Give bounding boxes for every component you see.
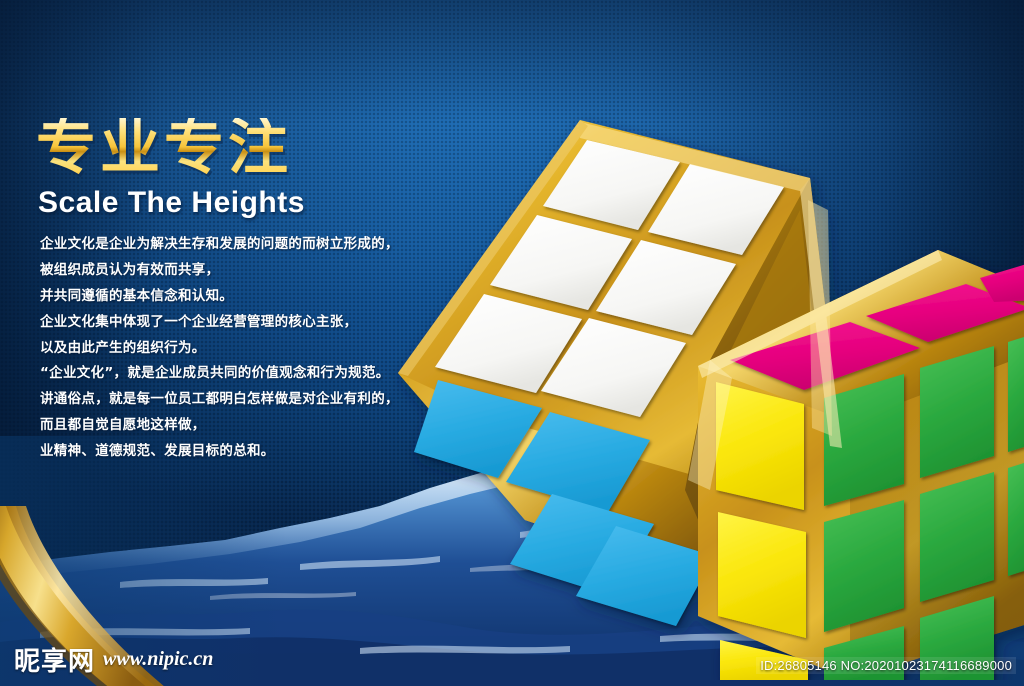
body-line: 并共同遵循的基本信念和认知。 [40,288,436,305]
body-line: 而且都自觉自愿地这样做， [40,417,436,434]
rubiks-cube-image [380,60,1024,680]
watermark-brand: 昵享网 [14,641,95,678]
image-id-tag: ID:26805146 NO:20201023174116689000 [756,657,1016,674]
body-line: 以及由此产生的组织行为。 [40,340,436,357]
poster-canvas: 专业专注 Scale The Heights 企业文化是企业为解决生存和发展的问… [0,0,1024,686]
body-line: 讲通俗点，就是每一位员工都明白怎样做是对企业有利的， [40,391,436,408]
page-title: 专业专注 [36,118,436,178]
body-line: “企业文化”，就是企业成员共同的价值观念和行为规范。 [40,365,436,382]
body-line: 企业文化集中体现了一个企业经营管理的核心主张， [40,314,436,331]
watermark-url: www.nipic.cn [103,648,213,671]
body-line: 被组织成员认为有效而共享， [40,262,436,279]
watermark: 昵享网 www.nipic.cn [14,641,213,678]
body-line: 业精神、道德规范、发展目标的总和。 [40,443,436,460]
body-line: 企业文化是企业为解决生存和发展的问题的而树立形成的， [40,236,436,253]
body-paragraph: 企业文化是企业为解决生存和发展的问题的而树立形成的， 被组织成员认为有效而共享，… [40,236,436,460]
copy-block: 专业专注 Scale The Heights 企业文化是企业为解决生存和发展的问… [36,118,436,469]
subtitle: Scale The Heights [38,186,436,220]
